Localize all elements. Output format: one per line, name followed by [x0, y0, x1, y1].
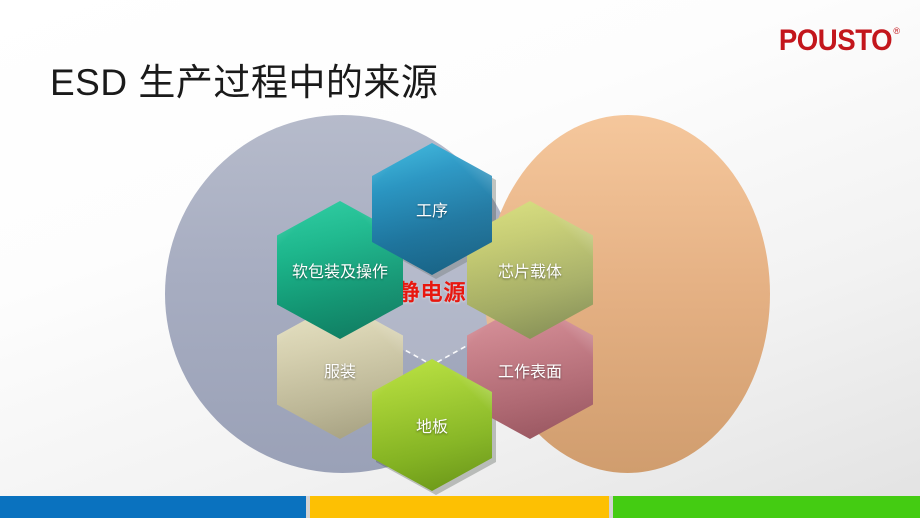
footer-color-bars — [0, 496, 920, 518]
footer-bar-blue — [0, 496, 306, 518]
logo-wordmark: POUSTO — [779, 26, 892, 56]
slide-canvas: POUSTO ® ESD 生产过程中的来源 工序 — [0, 0, 920, 518]
hex-floor-label: 地板 — [416, 413, 448, 437]
diagram-stage: 工序 软包装及操作 芯片载体 服装 — [0, 105, 920, 475]
page-title: ESD 生产过程中的来源 — [50, 52, 438, 106]
registered-trademark-icon: ® — [893, 27, 900, 36]
footer-bar-yellow — [310, 496, 609, 518]
footer-bar-green — [613, 496, 920, 518]
hex-clothing-label: 服装 — [324, 358, 356, 382]
pousto-logo: POUSTO ® — [769, 26, 900, 56]
hex-worksurface-label: 工作表面 — [498, 358, 562, 382]
hex-process-label: 工序 — [416, 197, 448, 221]
hex-center-label: 静电源 — [397, 275, 466, 307]
hexagon-cluster: 工序 软包装及操作 芯片载体 服装 — [0, 105, 920, 475]
hex-carrier-label: 芯片载体 — [498, 258, 562, 282]
hex-softpack-label: 软包装及操作 — [292, 258, 388, 282]
